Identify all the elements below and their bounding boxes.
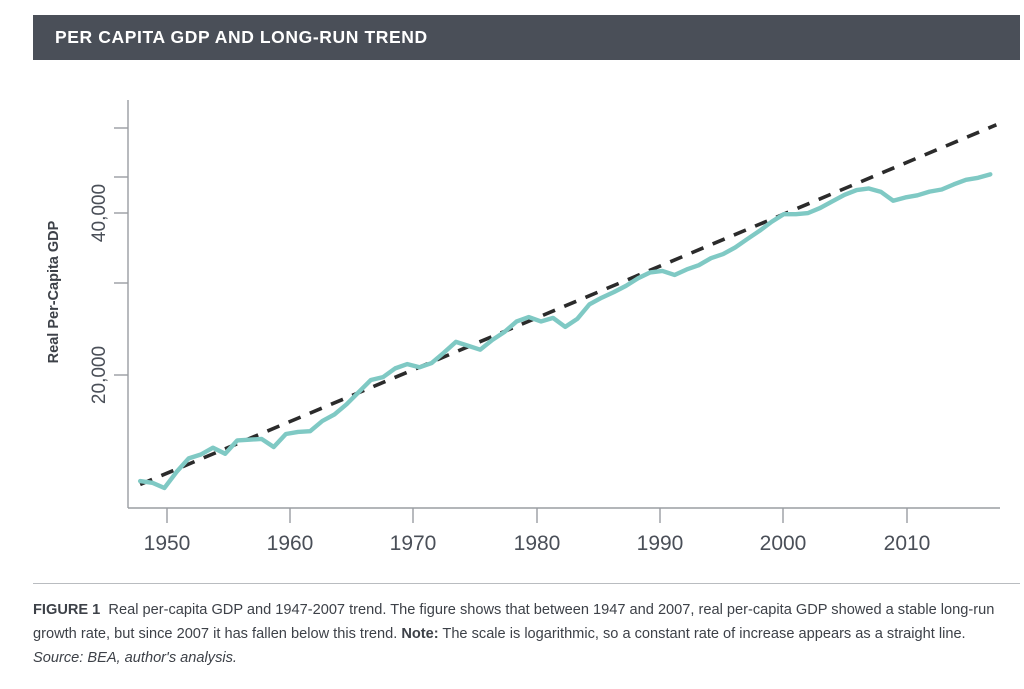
x-tick-label-1970: 1970	[390, 532, 437, 555]
x-tick-label-1980: 1980	[514, 532, 561, 555]
caption-figure-label: FIGURE 1	[33, 602, 100, 618]
y-axis-title: Real Per-Capita GDP	[46, 220, 62, 363]
page-title: PER CAPITA GDP AND LONG-RUN TREND	[33, 27, 428, 48]
line-chart: 40,000 20,000 Real Per-Capita GDP 1950 1…	[0, 60, 1024, 575]
chart-area: 40,000 20,000 Real Per-Capita GDP 1950 1…	[0, 60, 1024, 575]
figure-caption: FIGURE 1 Real per-capita GDP and 1947-20…	[33, 598, 1011, 670]
caption-note-label: Note:	[401, 626, 438, 642]
axis-lines	[128, 100, 1000, 508]
caption-body-2: The scale is logarithmic, so a constant …	[439, 626, 970, 642]
y-tick-marks	[114, 128, 128, 375]
x-tick-label-2000: 2000	[760, 532, 807, 555]
gdp-line-series	[140, 174, 990, 488]
x-tick-label-1990: 1990	[637, 532, 684, 555]
caption-source: Source: BEA, author's analysis.	[33, 650, 237, 666]
figure-container: PER CAPITA GDP AND LONG-RUN TREND 40,000…	[0, 0, 1024, 689]
trend-line-series	[140, 125, 996, 485]
figure-header-bar: PER CAPITA GDP AND LONG-RUN TREND	[33, 15, 1020, 60]
y-tick-label-40000: 40,000	[89, 184, 110, 242]
caption-divider	[33, 583, 1020, 584]
x-tick-label-1950: 1950	[144, 532, 191, 555]
x-tick-label-1960: 1960	[267, 532, 314, 555]
x-tick-label-2010: 2010	[884, 532, 931, 555]
y-tick-label-20000: 20,000	[89, 346, 110, 404]
x-tick-marks	[167, 508, 907, 523]
